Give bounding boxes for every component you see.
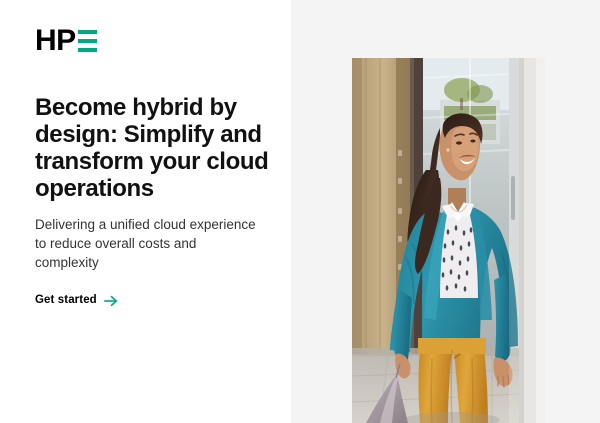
hpe-logo-text: HP <box>35 28 76 54</box>
arrow-right-icon <box>104 294 118 306</box>
hpe-hero-banner: HP Become hybrid by design: Simplify and… <box>0 0 600 423</box>
hero-photo <box>352 58 545 423</box>
hpe-logo-e-icon <box>78 30 97 52</box>
page-title: Become hybrid by design: Simplify and tr… <box>35 94 290 202</box>
left-content-panel: HP Become hybrid by design: Simplify and… <box>0 0 291 423</box>
get-started-label: Get started <box>35 294 97 306</box>
get-started-link[interactable]: Get started <box>35 294 118 306</box>
hero-subhead: Delivering a unified cloud experience to… <box>35 215 260 272</box>
hpe-logo[interactable]: HP <box>35 28 97 54</box>
